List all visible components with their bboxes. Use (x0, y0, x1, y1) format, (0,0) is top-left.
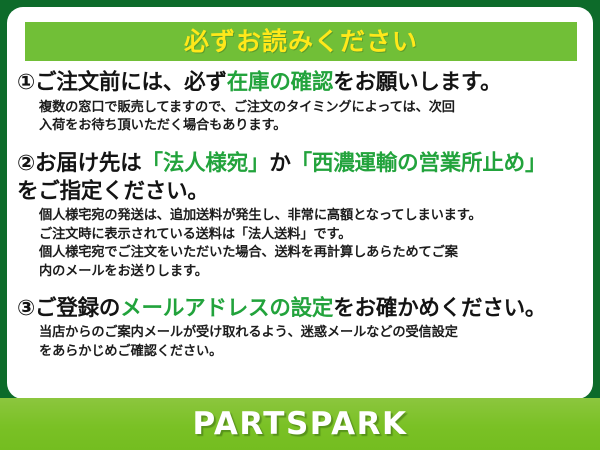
brand-logo-text: PARTSPARK (192, 409, 407, 440)
notice-item-1-marker: ① (17, 70, 35, 95)
notice-item-2-marker: ② (17, 151, 35, 176)
notice-item-2-headline-highlight-1: 「法人様宛」 (142, 151, 270, 176)
notice-item-2: ②お届け先は「法人様宛」か「西濃運輸の営業所止め」 をご指定ください。 個人様宅… (17, 150, 583, 282)
notice-item-1-headline-part-3: をお願いします。 (333, 70, 501, 95)
notice-item-1-headline-highlight: 在庫の確認 (227, 70, 334, 95)
notice-item-2-headline-line2: をご指定ください。 (17, 178, 583, 206)
brand-footer: PARTSPARK (0, 398, 600, 450)
notice-item-3-headline-part-3: をお確かめください。 (333, 296, 546, 321)
spacer-2 (17, 284, 583, 295)
title-banner: 必ずお読みください (25, 22, 577, 61)
notice-item-3: ③ご登録のメールアドレスの設定をお確かめください。 当店からのご案内メールが受け… (17, 295, 583, 362)
notice-item-3-headline-highlight: メールアドレスの設定 (120, 296, 333, 321)
notice-item-2-headline: ②お届け先は「法人様宛」か「西濃運輸の営業所止め」 (17, 150, 583, 178)
notice-item-3-body-line-2: をあらかじめご確認ください。 (39, 343, 583, 362)
notice-card: 必ずお読みください ①ご注文前には、必ず在庫の確認をお願いします。 複数の窓口で… (7, 7, 593, 399)
notice-item-3-marker: ③ (17, 296, 35, 321)
spacer-1 (17, 138, 583, 150)
notice-item-3-body-line-1: 当店からのご案内メールが受け取れるよう、迷惑メールなどの受信設定 (39, 324, 583, 343)
notice-item-2-headline-part-1: お届け先は (35, 151, 142, 176)
notice-item-3-headline: ③ご登録のメールアドレスの設定をお確かめください。 (17, 295, 583, 323)
page-title: 必ずお読みください (184, 29, 418, 54)
notice-item-2-body-line-2: ご注文時に表示されている送料は「法人送料」です。 (39, 226, 583, 245)
notice-item-1-body: 複数の窓口で販売してますので、ご注文のタイミングによっては、次回 入荷をお待ち頂… (39, 99, 583, 136)
notice-item-2-body: 個人様宅宛の発送は、追加送料が発生し、非常に高額となってしまいます。 ご注文時に… (39, 207, 583, 282)
notice-list: ①ご注文前には、必ず在庫の確認をお願いします。 複数の窓口で販売してますので、ご… (7, 69, 593, 364)
notice-item-2-headline-highlight-2: 「西濃運輸の営業所止め」 (291, 151, 547, 176)
notice-item-2-body-line-1: 個人様宅宛の発送は、追加送料が発生し、非常に高額となってしまいます。 (39, 207, 583, 226)
notice-item-1-body-line-2: 入荷をお待ち頂いただく場合もあります。 (39, 117, 583, 136)
notice-item-3-headline-part-1: ご登録の (35, 296, 120, 321)
notice-item-2-headline-part-3: か (269, 151, 290, 176)
notice-item-3-body: 当店からのご案内メールが受け取れるよう、迷惑メールなどの受信設定 をあらかじめご… (39, 324, 583, 361)
notice-item-1-body-line-1: 複数の窓口で販売してますので、ご注文のタイミングによっては、次回 (39, 99, 583, 118)
notice-poster: 必ずお読みください ①ご注文前には、必ず在庫の確認をお願いします。 複数の窓口で… (0, 0, 600, 450)
notice-item-1-headline: ①ご注文前には、必ず在庫の確認をお願いします。 (17, 69, 583, 97)
notice-item-2-body-line-4: 内のメールをお送りします。 (39, 263, 583, 282)
notice-item-1-headline-part-1: ご注文前には、必ず (35, 70, 227, 95)
notice-item-1: ①ご注文前には、必ず在庫の確認をお願いします。 複数の窓口で販売してますので、ご… (17, 69, 583, 136)
notice-item-2-body-line-3: 個人様宅宛でご注文をいただいた場合、送料を再計算しあらためてご案 (39, 244, 583, 263)
